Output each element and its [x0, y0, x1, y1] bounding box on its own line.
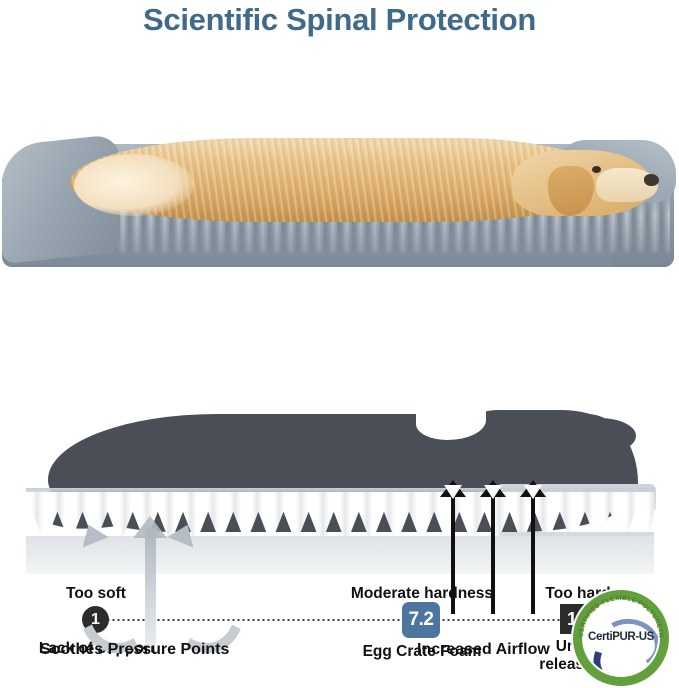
dog-nose: [644, 174, 659, 186]
airflow-arrow-1-stem: [451, 492, 455, 614]
certipur-us-seal: CONTAINS CERTIFIED FLEXIBLE POLYURETHANE…: [571, 588, 671, 688]
caption-soothes-pressure-points: Soothes Pressure Points: [40, 641, 229, 659]
pressure-arrow-center-head-icon: [133, 516, 167, 538]
airflow-arrow-2-head-icon: [480, 480, 506, 497]
page-title: Scientific Spinal Protection: [0, 2, 679, 38]
airflow-arrow-3-stem: [531, 492, 535, 614]
airflow-arrow-3-head-icon: [520, 480, 546, 497]
dog-eye: [592, 166, 601, 173]
seal-inner-disc: CertiPUR-US: [584, 601, 658, 675]
hardness-scale: Too soft 1 Lack of support Moderate hard…: [0, 288, 679, 392]
airflow-arrow-1-head-icon: [440, 480, 466, 497]
seal-brand-text: CertiPUR-US: [584, 631, 658, 643]
dog-chest: [74, 154, 194, 216]
product-photo: [0, 62, 679, 272]
photo-background: [0, 267, 679, 272]
pressure-arrow-center-stem: [145, 528, 156, 646]
airflow-arrow-2-stem: [491, 492, 495, 614]
caption-increased-airflow: Increased Airflow: [417, 641, 550, 659]
dog-silhouette-snout: [560, 418, 636, 452]
